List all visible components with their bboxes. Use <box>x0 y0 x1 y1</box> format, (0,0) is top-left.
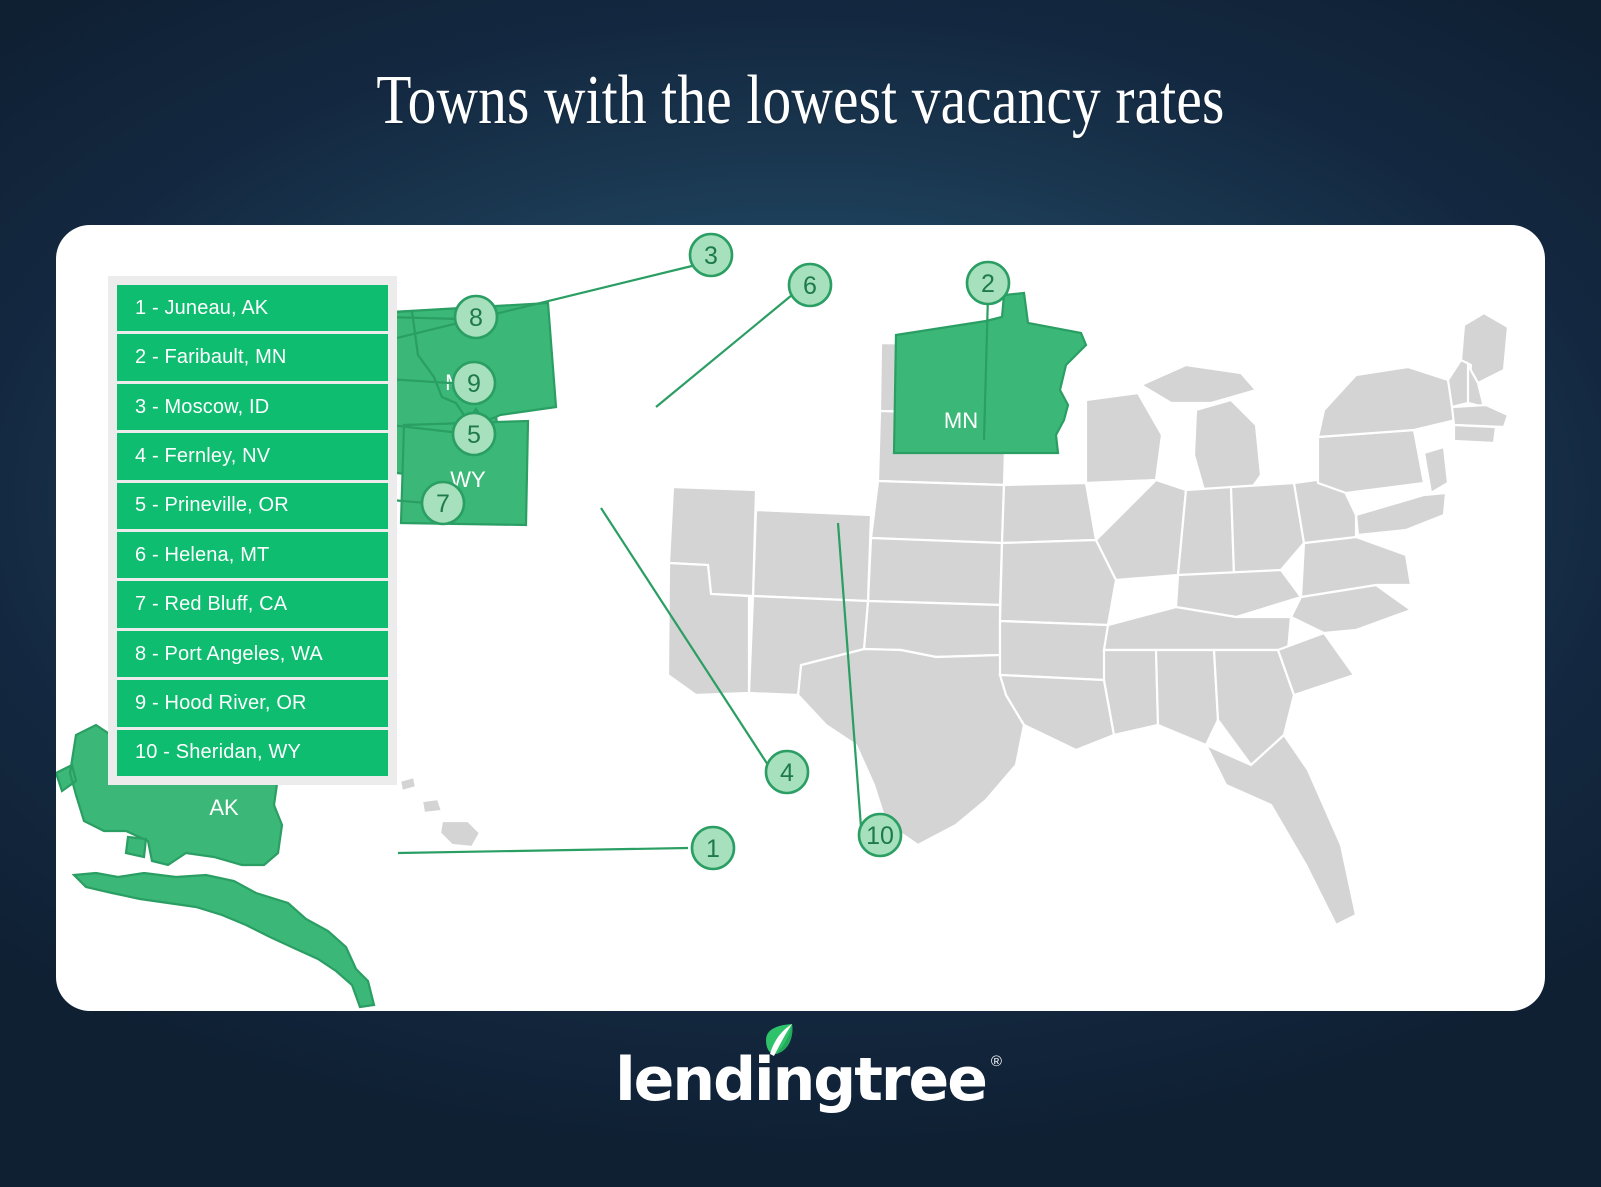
state-MD-DE <box>1356 493 1446 535</box>
state-TN <box>1104 607 1291 650</box>
marker-5[interactable]: 5 <box>453 413 495 455</box>
marker-label-7: 7 <box>436 490 450 518</box>
state-TX <box>798 649 1024 845</box>
marker-label-10: 10 <box>866 822 894 850</box>
state-MN <box>894 293 1086 453</box>
state-AL <box>1156 650 1218 745</box>
registered-trademark-icon: ® <box>991 1053 1002 1070</box>
legend-panel: 1 - Juneau, AK 2 - Faribault, MN 3 - Mos… <box>108 276 397 785</box>
marker-label-4: 4 <box>780 759 794 787</box>
state-CT-RI <box>1454 425 1496 443</box>
marker-3[interactable]: 3 <box>690 234 732 276</box>
marker-label-2: 2 <box>981 270 995 298</box>
marker-2[interactable]: 2 <box>967 262 1009 304</box>
marker-6[interactable]: 6 <box>789 264 831 306</box>
state-IN <box>1178 487 1234 575</box>
marker-8[interactable]: 8 <box>455 296 497 338</box>
list-item[interactable]: 1 - Juneau, AK <box>117 285 388 331</box>
page-title: Towns with the lowest vacancy rates <box>144 62 1457 140</box>
state-MS <box>1104 650 1158 735</box>
state-label-MN: MN <box>944 408 978 433</box>
marker-label-9: 9 <box>467 370 481 398</box>
list-item[interactable]: 6 - Helena, MT <box>117 532 388 578</box>
list-item[interactable]: 5 - Prineville, OR <box>117 483 388 529</box>
list-item[interactable]: 4 - Fernley, NV <box>117 433 388 479</box>
state-WI <box>1086 393 1162 483</box>
list-item[interactable]: 10 - Sheridan, WY <box>117 730 388 776</box>
marker-label-5: 5 <box>467 421 481 449</box>
state-NJ <box>1424 447 1448 493</box>
leaf-icon <box>762 1024 796 1064</box>
state-MA <box>1452 405 1508 427</box>
state-KS <box>868 538 1002 605</box>
state-IA <box>1002 483 1096 543</box>
state-AR <box>1000 621 1108 680</box>
marker-10[interactable]: 10 <box>859 814 901 856</box>
marker-1[interactable]: 1 <box>692 827 734 869</box>
map-card: WA OR ID MT WY NV CA MN AK 1 2 <box>56 225 1545 1011</box>
list-item[interactable]: 8 - Port Angeles, WA <box>117 631 388 677</box>
marker-label-6: 6 <box>803 272 817 300</box>
marker-label-8: 8 <box>469 304 483 332</box>
marker-label-1: 1 <box>706 835 720 863</box>
lendingtree-logo[interactable]: lendingtree ® <box>615 1045 986 1115</box>
state-NE <box>871 481 1004 543</box>
state-label-AK: AK <box>209 795 239 820</box>
list-item[interactable]: 9 - Hood River, OR <box>117 680 388 726</box>
marker-label-3: 3 <box>704 242 718 270</box>
state-FL <box>1206 735 1356 925</box>
state-NY <box>1318 367 1456 437</box>
marker-4[interactable]: 4 <box>766 751 808 793</box>
list-item[interactable]: 7 - Red Bluff, CA <box>117 581 388 627</box>
legend-list: 1 - Juneau, AK 2 - Faribault, MN 3 - Mos… <box>117 285 388 776</box>
state-MI-upper <box>1141 365 1256 403</box>
state-OH <box>1231 483 1304 575</box>
logo-wordmark: lendingtree <box>615 1045 986 1115</box>
state-PA <box>1318 430 1424 493</box>
state-MO <box>1000 540 1116 625</box>
marker-9[interactable]: 9 <box>453 362 495 404</box>
footer: lendingtree ® <box>0 1045 1601 1145</box>
leader-line-6 <box>656 295 792 407</box>
state-IL <box>1096 480 1186 580</box>
marker-7[interactable]: 7 <box>422 482 464 524</box>
gray-states-group <box>668 313 1508 925</box>
state-CO <box>753 510 871 601</box>
state-VA <box>1301 537 1411 597</box>
leader-line-1 <box>398 848 688 853</box>
list-item[interactable]: 2 - Faribault, MN <box>117 334 388 380</box>
list-item[interactable]: 3 - Moscow, ID <box>117 384 388 430</box>
